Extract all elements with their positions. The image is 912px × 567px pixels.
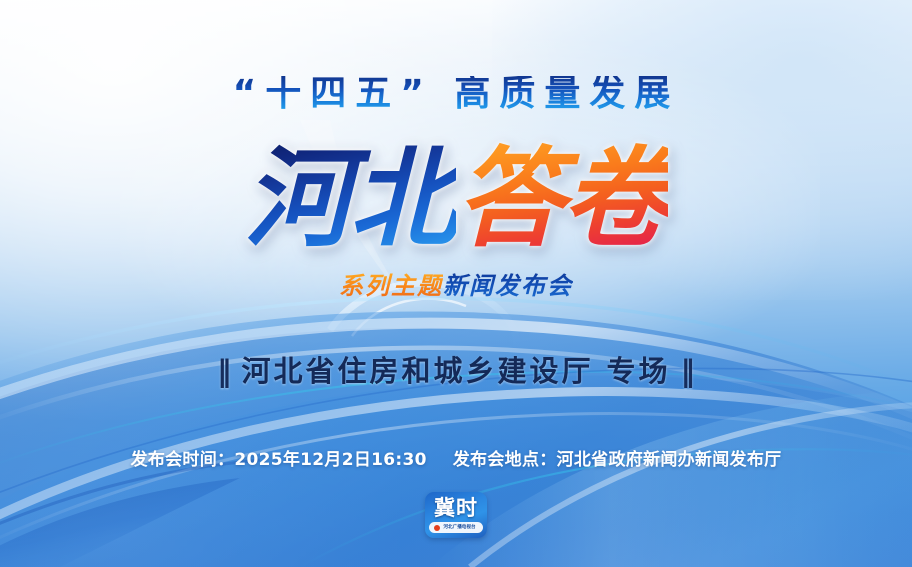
department-session-line: ‖河北省住房和城乡建设厅 专场‖ bbox=[0, 348, 912, 390]
series-subtitle-blue: 新闻发布会 bbox=[443, 272, 573, 300]
series-subtitle: 系列主题新闻发布会 bbox=[0, 274, 912, 298]
logotype-warm-part: 答卷 bbox=[456, 137, 668, 262]
venue-bar-left-icon: ‖ bbox=[207, 354, 242, 388]
series-subtitle-warm: 系列主题 bbox=[339, 272, 443, 300]
event-meta-line: 发布会时间：2025年12月2日16:30发布会地点：河北省政府新闻办新闻发布厅 bbox=[0, 445, 912, 470]
broadcaster-dot-icon bbox=[434, 525, 440, 531]
logotype-blue-part: 河北 bbox=[244, 137, 456, 262]
broadcaster-caption-strip: 河北广播电视台 bbox=[429, 522, 483, 533]
venue-label: 河北省住房和城乡建设厅 专场 bbox=[241, 354, 670, 388]
broadcaster-logo-badge: 冀时 河北广播电视台 bbox=[425, 492, 487, 538]
press-conference-poster: “十四五” 高质量发展 河北答卷 系列主题新闻发布会 ‖河北省住房和城乡建设厅 … bbox=[0, 0, 912, 567]
event-place: 发布会地点：河北省政府新闻办新闻发布厅 bbox=[453, 450, 782, 470]
main-logotype: 河北答卷 bbox=[0, 136, 912, 264]
event-time: 发布会时间：2025年12月2日16:30 bbox=[131, 450, 427, 470]
campaign-kicker: “十四五” 高质量发展 bbox=[0, 76, 912, 112]
broadcaster-caption: 河北广播电视台 bbox=[444, 524, 476, 530]
venue-bar-right-icon: ‖ bbox=[671, 354, 706, 388]
broadcaster-wordmark: 冀时 bbox=[425, 495, 487, 521]
